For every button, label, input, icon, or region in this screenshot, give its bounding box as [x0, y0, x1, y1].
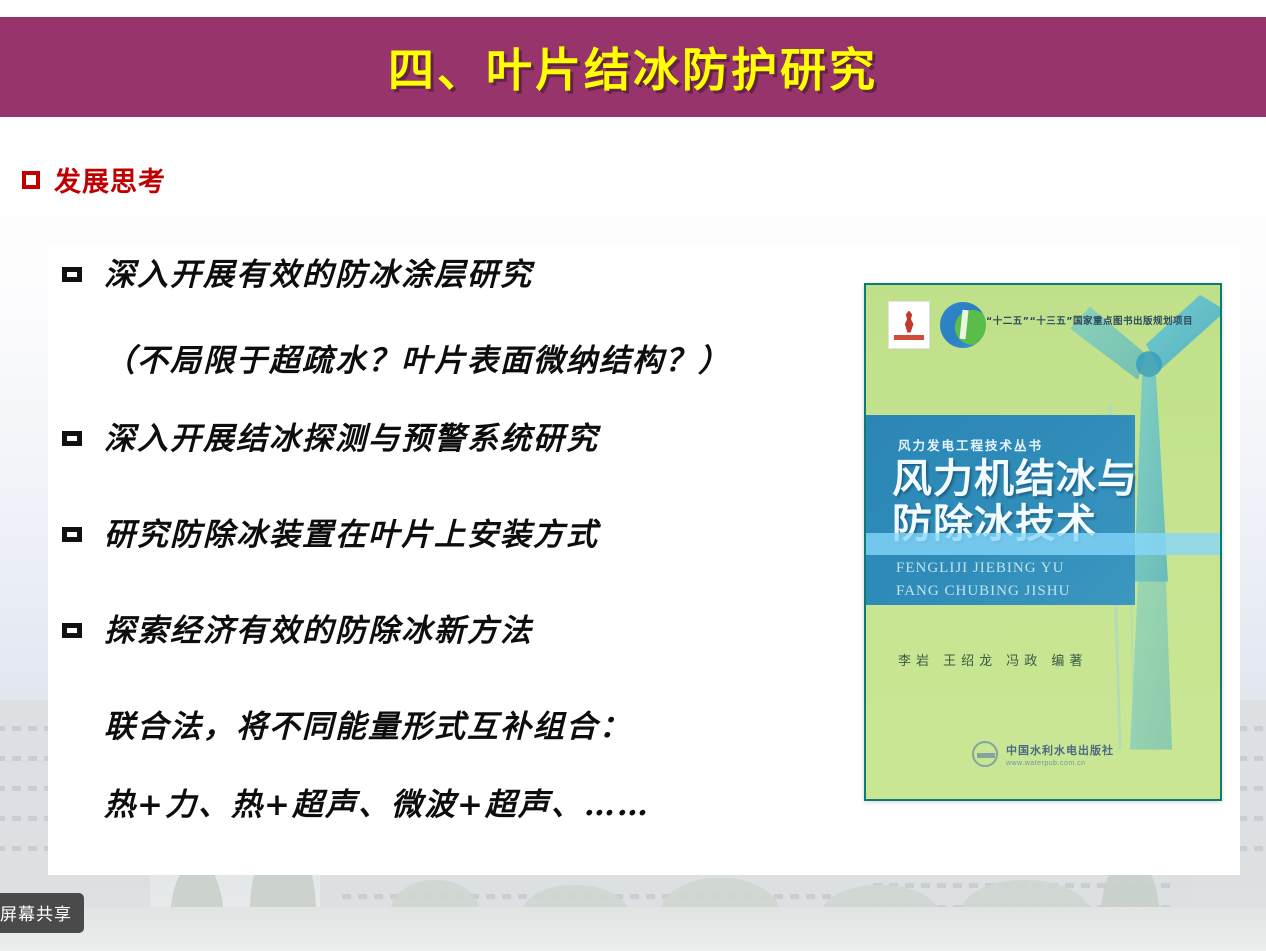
- series-logo-icon: [940, 302, 986, 348]
- book-pinyin: FENGLIJI JIEBING YU FANG CHUBING JISHU: [896, 557, 1070, 602]
- background-ground: [0, 907, 1266, 951]
- coating-note: （不局限于超疏水？叶片表面微纳结构？）: [62, 344, 862, 378]
- square-bullet-icon: [62, 527, 82, 542]
- page-title: 四、叶片结冰防护研究: [388, 34, 878, 100]
- list-item: 探索经济有效的防除冰新方法: [62, 614, 862, 666]
- spacer: [62, 744, 862, 788]
- publisher-url: www.waterpub.com.cn: [1006, 760, 1114, 767]
- award-caption-bar: [894, 335, 924, 340]
- book-authors: 李岩 王绍龙 冯政 编著: [898, 650, 1087, 669]
- slide-title-bar: 四、叶片结冰防护研究: [0, 17, 1266, 117]
- list-item: 深入开展有效的防冰涂层研究: [62, 258, 862, 310]
- book-series-label: 风力发电工程技术丛书: [898, 435, 1043, 454]
- square-bullet-icon: [22, 171, 40, 189]
- spacer: [62, 378, 862, 422]
- book-cover-image: “十二五”“十三五”国家重点图书出版规划项目 风力发电工程技术丛书 风力机结冰与…: [864, 283, 1222, 801]
- book-plan-label: “十二五”“十三五”国家重点图书出版规划项目: [986, 313, 1193, 327]
- list-item-label: 深入开展结冰探测与预警系统研究: [104, 422, 599, 456]
- spacer: [62, 666, 862, 710]
- method-line-1: 联合法，将不同能量形式互补组合：: [62, 710, 862, 744]
- section-heading-label: 发展思考: [54, 160, 166, 199]
- publisher-award-badge-icon: [888, 301, 930, 349]
- square-bullet-icon: [62, 267, 82, 282]
- book-pinyin-line-2: FANG CHUBING JISHU: [896, 580, 1070, 603]
- spacer: [62, 474, 862, 518]
- publisher-text: 中国水利水电出版社 www.waterpub.com.cn: [1006, 742, 1114, 767]
- book-accent-stripe: [866, 533, 1220, 555]
- square-bullet-icon: [62, 623, 82, 638]
- publisher-name: 中国水利水电出版社: [1006, 742, 1114, 758]
- bullet-list: 深入开展有效的防冰涂层研究 （不局限于超疏水？叶片表面微纳结构？） 深入开展结冰…: [62, 258, 862, 822]
- list-item-label: 探索经济有效的防除冰新方法: [104, 614, 533, 648]
- screen-share-badge: 电的屏幕共享: [0, 893, 84, 933]
- book-logos: [888, 301, 986, 349]
- list-item: 深入开展结冰探测与预警系统研究: [62, 422, 862, 474]
- spacer: [62, 310, 862, 344]
- publisher-logo-icon: [972, 741, 998, 767]
- square-bullet-icon: [62, 431, 82, 446]
- list-item-label: 深入开展有效的防冰涂层研究: [104, 258, 533, 292]
- book-pinyin-line-1: FENGLIJI JIEBING YU: [896, 557, 1070, 580]
- list-item-label: 研究防除冰装置在叶片上安装方式: [104, 518, 599, 552]
- list-item: 研究防除冰装置在叶片上安装方式: [62, 518, 862, 570]
- spacer: [62, 570, 862, 614]
- section-heading: 发展思考: [22, 160, 166, 199]
- method-line-2: 热+力、热+超声、微波+超声、……: [62, 788, 862, 822]
- book-title-line-1: 风力机结冰与: [892, 457, 1138, 502]
- award-emblem-icon: [901, 311, 917, 333]
- presentation-slide: 四、叶片结冰防护研究 发展思考 深入开展有效的防冰涂层研究 （不局限于超疏水？叶…: [0, 0, 1266, 951]
- book-publisher: 中国水利水电出版社 www.waterpub.com.cn: [866, 741, 1220, 767]
